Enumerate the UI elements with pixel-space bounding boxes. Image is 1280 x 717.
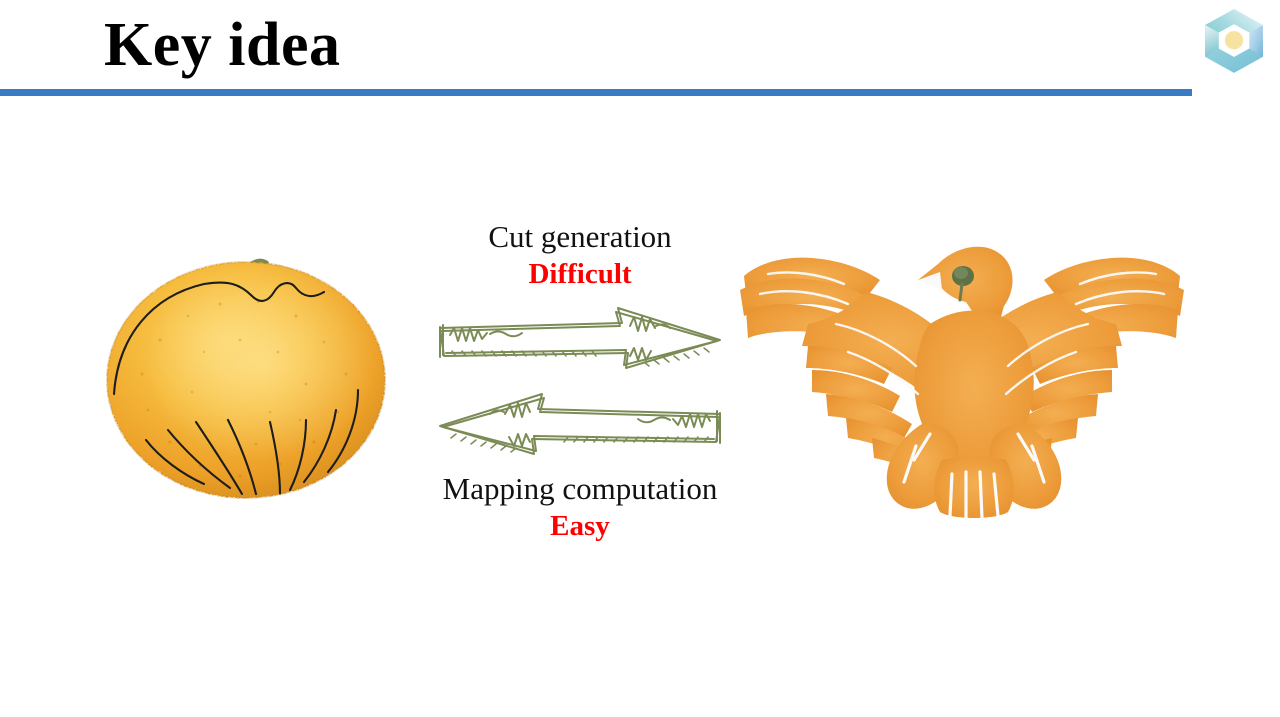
orange-with-cut-seams — [100, 244, 392, 502]
cut-generation-label: Cut generation — [404, 218, 756, 256]
hexagon-g-logo — [1196, 4, 1272, 84]
center-annotation-column: Cut generation Difficult — [404, 218, 756, 548]
arrow-left-sketch — [404, 388, 756, 466]
title-divider — [0, 89, 1192, 96]
slide-canvas: Key idea — [0, 0, 1280, 717]
page-title: Key idea — [104, 8, 340, 82]
cut-generation-difficulty: Difficult — [404, 256, 756, 292]
mapping-computation-difficulty: Easy — [404, 508, 756, 544]
flattened-peel-bird — [716, 228, 1208, 524]
arrow-right-sketch — [404, 304, 756, 382]
mapping-computation-label: Mapping computation — [404, 470, 756, 508]
